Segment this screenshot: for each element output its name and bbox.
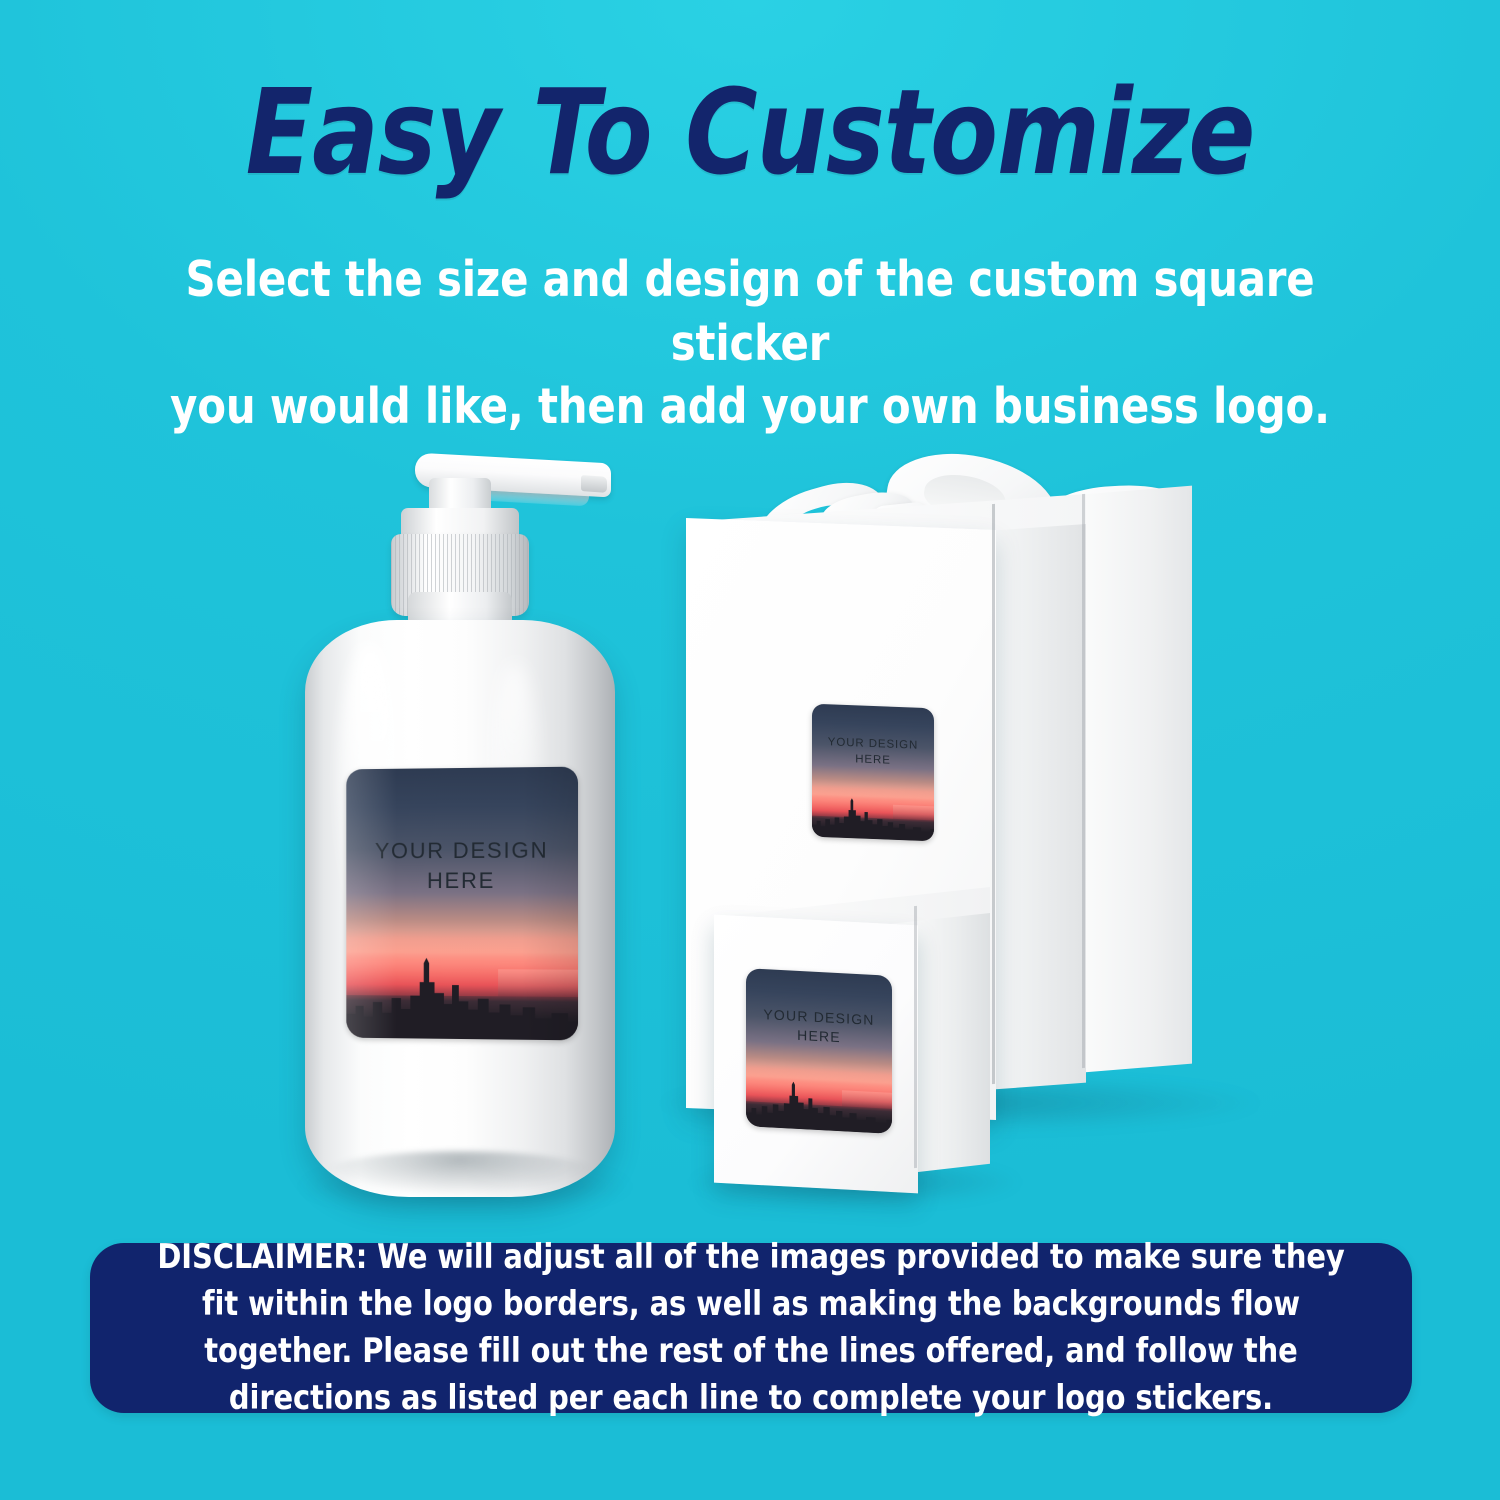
pump-bottle: YOUR DESIGN HERE (305, 452, 615, 1197)
small-box: YOUR DESIGN HERE (700, 896, 1000, 1198)
skyline-icon (746, 1079, 892, 1134)
bottle-label-sticker[interactable]: YOUR DESIGN HERE (346, 767, 578, 1041)
small-box-sticker-text: YOUR DESIGN HERE (746, 1004, 892, 1050)
bottle-base-shading (323, 1151, 597, 1197)
disclaimer-text: DISCLAIMER: We will adjust all of the im… (151, 1234, 1351, 1422)
disclaimer-body: We will adjust all of the images provide… (202, 1237, 1345, 1417)
skyline-icon (346, 957, 578, 1040)
subtitle-line-1: Select the size and design of the custom… (142, 248, 1358, 375)
page-subtitle: Select the size and design of the custom… (142, 248, 1358, 439)
smallbox-side-panel (916, 898, 990, 1172)
subtitle-line-2: you would like, then add your own busine… (142, 375, 1358, 439)
sticker-line-2: HERE (346, 866, 578, 897)
pump-nozzle-tip (581, 475, 607, 493)
disclaimer-box: DISCLAIMER: We will adjust all of the im… (90, 1243, 1412, 1413)
skyline-icon (812, 797, 934, 842)
sticker-line-1: YOUR DESIGN (346, 835, 578, 866)
giftbox-side-panel (994, 497, 1086, 1090)
smallbox-seam (914, 906, 917, 1168)
disclaimer-label: DISCLAIMER: (157, 1237, 367, 1276)
giftbox-back-panel (1084, 486, 1192, 1073)
giftbox-seam-outer (1082, 494, 1085, 1068)
small-box-sticker[interactable]: YOUR DESIGN HERE (746, 968, 892, 1134)
promo-banner: Easy To Customize Select the size and de… (0, 0, 1500, 1500)
page-title: Easy To Customize (53, 72, 1448, 192)
gift-box-sticker-text: YOUR DESIGN HERE (812, 735, 934, 771)
bottle-sticker-text: YOUR DESIGN HERE (346, 835, 578, 896)
gift-box-sticker[interactable]: YOUR DESIGN HERE (812, 704, 934, 842)
